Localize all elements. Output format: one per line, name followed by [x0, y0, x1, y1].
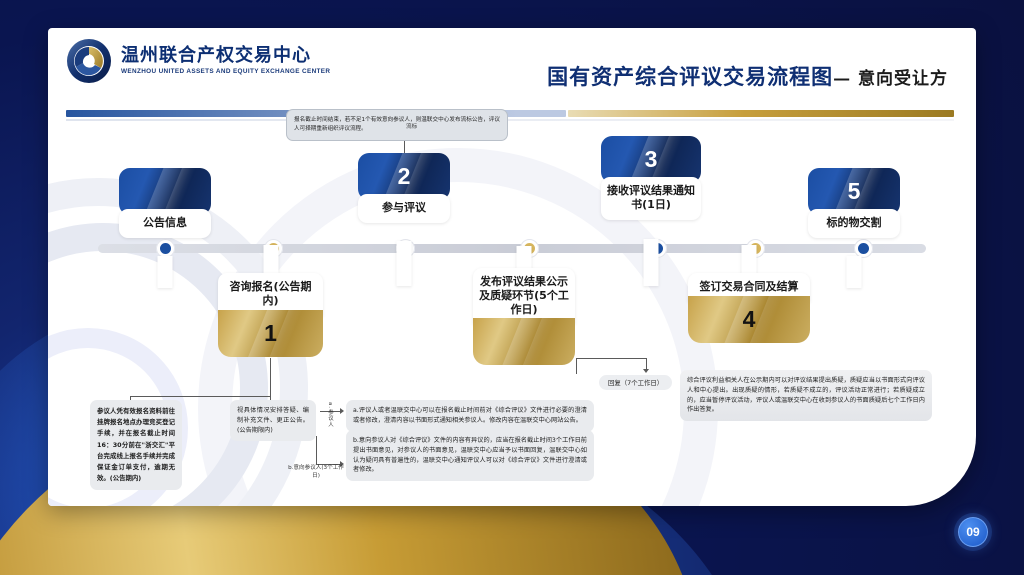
- connector-publish-right: [576, 358, 646, 359]
- page-number-badge: 09: [958, 517, 988, 547]
- callout-branch-label: 流标: [406, 124, 417, 132]
- title-band: 国有资产综合评议交易流程图 — 意向受让方: [376, 52, 976, 100]
- flow-node-participate-chip: 2: [358, 153, 450, 200]
- flow-node-publish-result-chip: [473, 318, 575, 365]
- note-objection: 综合评议利益相关人在公示期内可以对评议结果提出质疑，质疑应当以书面形式向评议人和…: [680, 370, 932, 421]
- connector-consult-left: [130, 396, 270, 397]
- flow-node-delivery-label: 标的物交割: [808, 209, 900, 238]
- flow-node-sign-contract-number: 4: [743, 306, 756, 333]
- callout-bid-failure: 报名截止时间结束，若不足1个有效意向参议人，则温联交中心发布流标公告，评议人可择…: [286, 109, 508, 141]
- flow-node-publish-result-label: 发布评议结果公示及质疑环节(5个工作日): [473, 268, 575, 324]
- flow-node-result-notice-number: 3: [645, 146, 658, 173]
- connector-publish-down1: [576, 358, 577, 374]
- flow-node-consult-register-number: 1: [264, 320, 277, 347]
- flow-node-delivery-chip: 5: [808, 168, 900, 215]
- note-item-b: b.意向参议人对《综合评议》文件的内容有异议的，应当在报名截止时间3个工作日前提…: [346, 430, 594, 481]
- flow-node-participate-stem: [397, 241, 412, 286]
- flow-node-participate[interactable]: 2 参与评议: [358, 153, 450, 223]
- note-item-a: a.评议人或者温联交中心可以在报名截止时间前对《综合评议》文件进行必要的澄清或者…: [346, 400, 594, 432]
- flow-node-consult-register[interactable]: 咨询报名(公告期内) 1: [218, 273, 323, 357]
- flow-node-consult-register-chip: 1: [218, 310, 323, 357]
- slide-card: 温州联合产权交易中心 WENZHOU UNITED ASSETS AND EQU…: [48, 28, 976, 506]
- flow-node-delivery-number: 5: [848, 178, 861, 205]
- connector-consult-down: [270, 358, 271, 396]
- flow-node-participate-label: 参与评议: [358, 194, 450, 223]
- flow-node-result-notice-label: 接收评议结果通知书(1日): [601, 177, 701, 220]
- page-subtitle: — 意向受让方: [833, 64, 948, 89]
- flow-node-participate-number: 2: [398, 163, 411, 190]
- flow-node-announcement-stem: [158, 256, 173, 288]
- connector-a-arrow: [340, 408, 344, 414]
- brand-name-cn: 温州联合产权交易中心: [121, 47, 330, 66]
- branch-label-b: b.意向参议人(3个工作日): [288, 465, 344, 481]
- swirl-logo-icon: [66, 38, 112, 84]
- flow-node-delivery-stem: [847, 256, 862, 288]
- page-title: 国有资产综合评议交易流程图: [547, 61, 833, 91]
- flow-node-announcement-label: 公告信息: [119, 209, 211, 238]
- flow-node-result-notice-chip: 3: [601, 136, 701, 183]
- note-clarification: 视具体情况安排答疑、编制补充文件、更正公告。(公告期限内): [230, 400, 316, 441]
- brand-name-en: WENZHOU UNITED ASSETS AND EQUITY EXCHANG…: [121, 68, 330, 75]
- flow-node-publish-result[interactable]: 发布评议结果公示及质疑环节(5个工作日): [473, 268, 575, 365]
- flow-node-announcement-chip: [119, 168, 211, 215]
- flow-node-result-notice-stem: [644, 239, 659, 286]
- branch-label-a: a.参议人: [326, 402, 334, 444]
- flow-node-announcement[interactable]: 公告信息: [119, 168, 211, 238]
- connector-b-down: [316, 436, 317, 464]
- card-header: 温州联合产权交易中心 WENZHOU UNITED ASSETS AND EQU…: [48, 28, 976, 102]
- pill-reply: 回复（7个工作日）: [599, 375, 672, 390]
- timeline-bar: [98, 244, 926, 253]
- connector-reply-arrow: [643, 369, 649, 373]
- flow-node-sign-contract-chip: 4: [688, 296, 810, 343]
- flow-node-result-notice[interactable]: 3 接收评议结果通知书(1日): [601, 136, 701, 220]
- note-registration: 参议人凭有效报名资料前往挂牌报名地点办理竞买登记手续，并在报名截止时间16：30…: [90, 400, 182, 490]
- brand-logo: 温州联合产权交易中心 WENZHOU UNITED ASSETS AND EQU…: [66, 38, 330, 84]
- flow-node-delivery[interactable]: 5 标的物交割: [808, 168, 900, 238]
- flow-node-sign-contract[interactable]: 签订交易合同及结算 4: [688, 273, 810, 343]
